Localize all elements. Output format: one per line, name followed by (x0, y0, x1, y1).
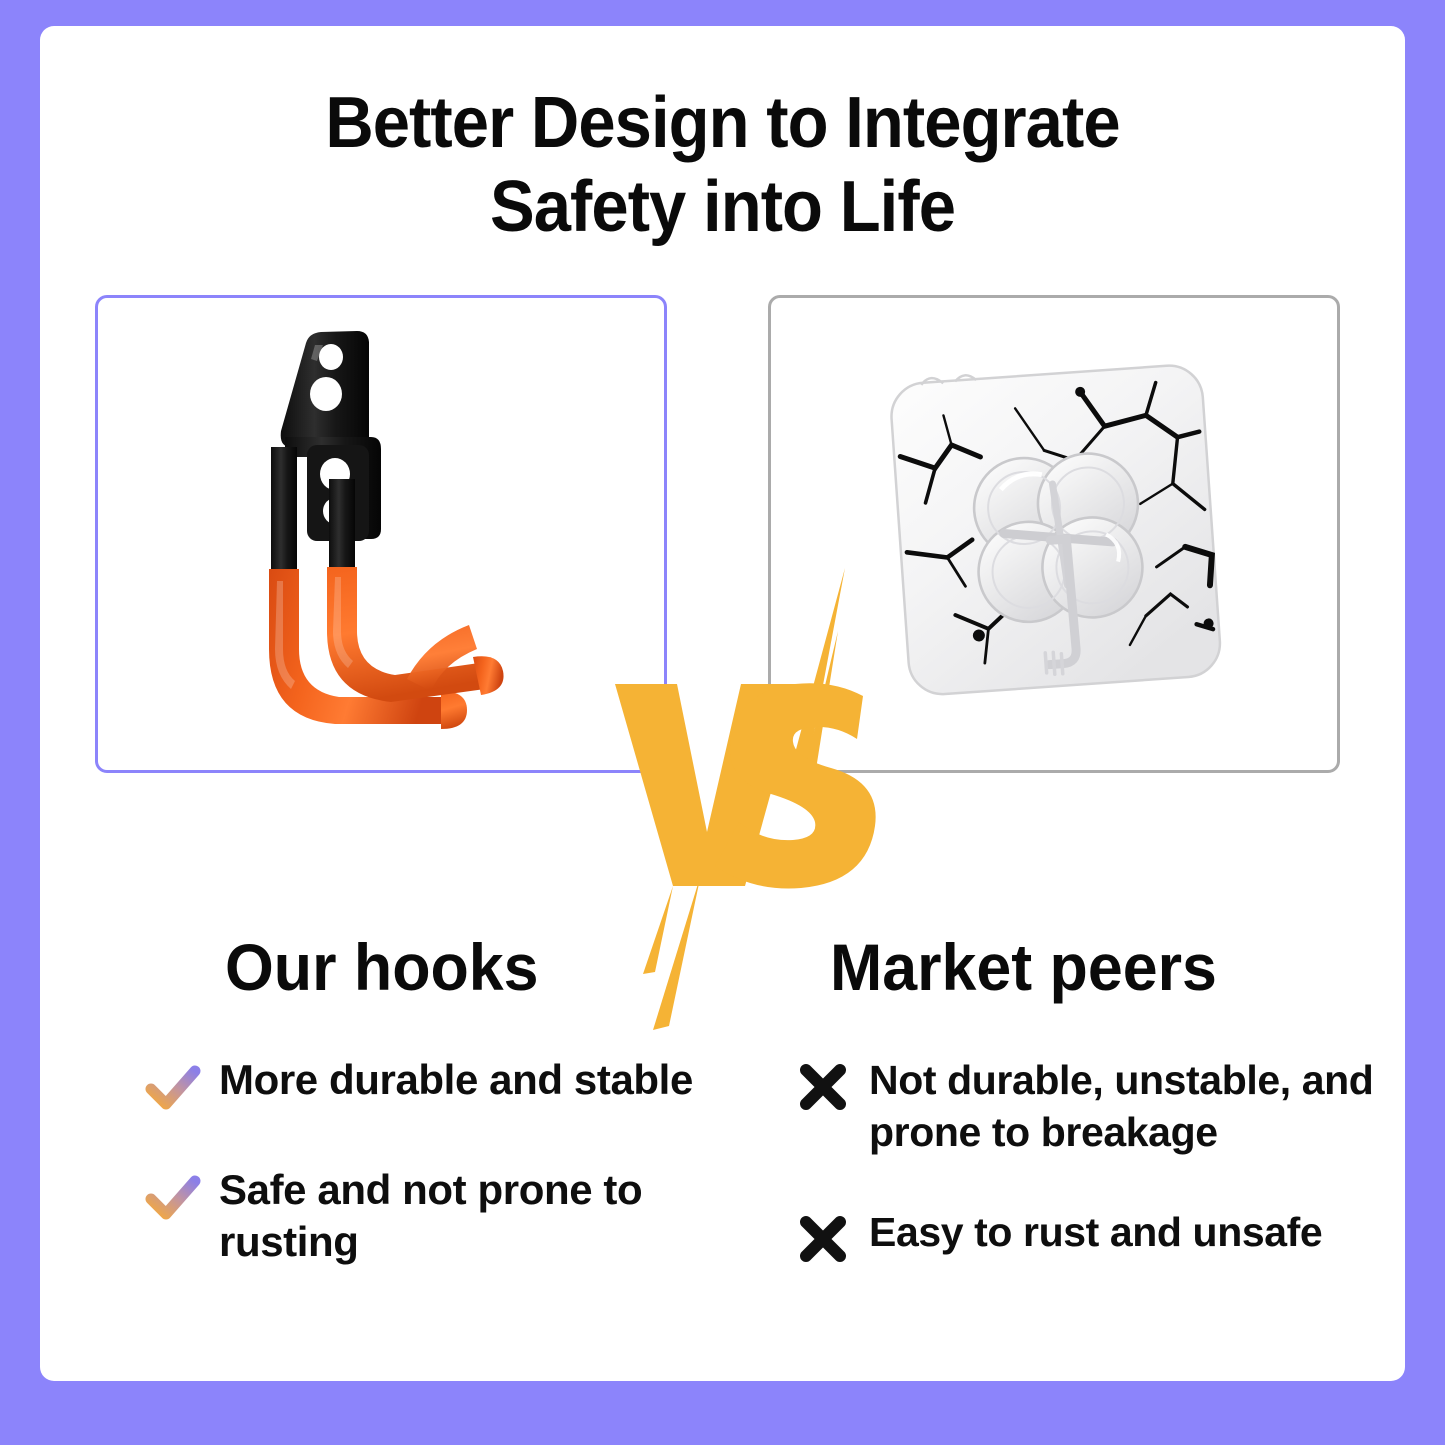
page-title-line-1: Better Design to Integrate (88, 81, 1357, 165)
product-image-peers (771, 298, 1337, 770)
infographic-root: Better Design to Integrate Safety into L… (0, 0, 1445, 1445)
column-heading-peers: Market peers (830, 931, 1217, 1003)
feature-text: Not durable, unstable, and prone to brea… (869, 1054, 1375, 1158)
product-image-ours (98, 298, 664, 770)
feature-comparison: More durable and stable Safe (40, 1054, 1405, 1381)
feature-text: Safe and not prone to rusting (219, 1164, 705, 1268)
feature-list-ours: More durable and stable Safe (145, 1054, 705, 1316)
page-title-line-2: Safety into Life (88, 165, 1357, 249)
list-item: Easy to rust and unsafe (795, 1206, 1375, 1268)
product-panel-peers (768, 295, 1340, 773)
feature-list-peers: Not durable, unstable, and prone to brea… (795, 1054, 1375, 1316)
check-icon (145, 1058, 201, 1116)
feature-text: More durable and stable (219, 1054, 693, 1106)
list-item: Safe and not prone to rusting (145, 1164, 705, 1268)
feature-text: Easy to rust and unsafe (869, 1206, 1322, 1258)
transparent-adhesive-wall-hook-illustration (854, 334, 1254, 734)
content-card: Better Design to Integrate Safety into L… (40, 26, 1405, 1381)
cross-icon (795, 1210, 851, 1268)
check-icon (145, 1168, 201, 1226)
list-item: More durable and stable (145, 1054, 705, 1116)
cross-icon (795, 1058, 851, 1116)
column-heading-ours: Our hooks (225, 931, 539, 1003)
page-title: Better Design to Integrate Safety into L… (88, 81, 1357, 249)
product-panel-ours (95, 295, 667, 773)
list-item: Not durable, unstable, and prone to brea… (795, 1054, 1375, 1158)
steel-garage-storage-hook-illustration (211, 319, 551, 749)
